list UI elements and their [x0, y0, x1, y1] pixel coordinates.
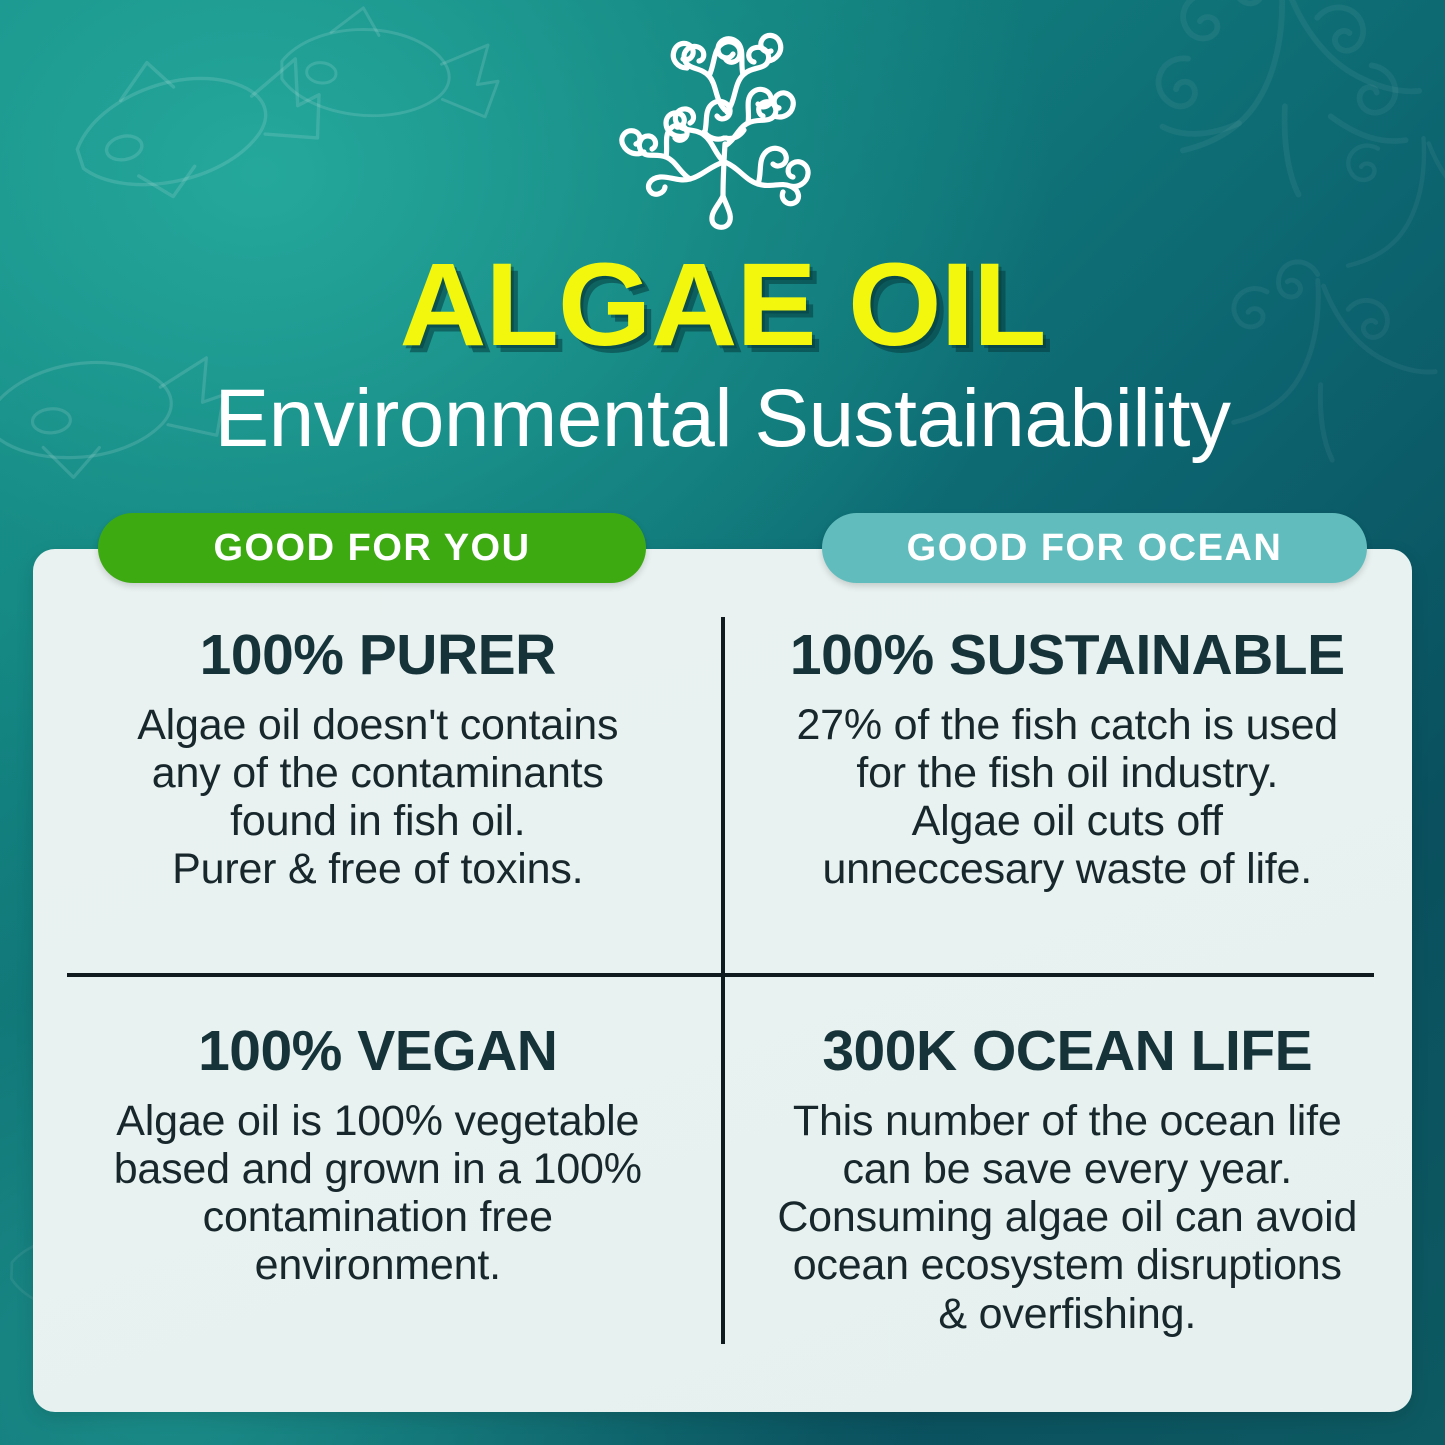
quadrant-vegan-title: 100% VEGAN [198, 1023, 557, 1080]
quadrant-purer: 100% PURER Algae oil doesn't contains an… [33, 549, 723, 975]
quadrant-purer-body: Algae oil doesn't contains any of the co… [137, 684, 618, 894]
poster-canvas: ALGAE OIL Environmental Sustainability G… [0, 0, 1445, 1445]
quadrant-purer-title: 100% PURER [200, 627, 556, 684]
badge-good-for-you: GOOD FOR YOU [98, 513, 646, 583]
badge-good-for-ocean: GOOD FOR OCEAN [822, 513, 1367, 583]
badge-row: GOOD FOR YOU GOOD FOR OCEAN [0, 513, 1445, 583]
badge-good-for-ocean-label: GOOD FOR OCEAN [907, 527, 1283, 570]
page-subtitle: Environmental Sustainability [0, 364, 1445, 460]
quadrant-sustainable-body: 27% of the fish catch is used for the fi… [796, 684, 1338, 894]
quadrant-ocean-life-title: 300K OCEAN LIFE [822, 1023, 1312, 1080]
coral-seaweed-icon [605, 18, 841, 242]
quadrant-sustainable-title: 100% SUSTAINABLE [790, 627, 1345, 684]
poster-header: ALGAE OIL Environmental Sustainability [0, 0, 1445, 460]
vertical-divider [721, 617, 725, 1344]
badge-good-for-you-label: GOOD FOR YOU [213, 527, 530, 570]
quadrant-sustainable: 100% SUSTAINABLE 27% of the fish catch i… [723, 549, 1413, 975]
quadrant-ocean-life-body: This number of the ocean life can be sav… [777, 1080, 1357, 1338]
quadrant-vegan-body: Algae oil is 100% vegetable based and gr… [114, 1080, 642, 1290]
quadrant-ocean-life: 300K OCEAN LIFE This number of the ocean… [723, 975, 1413, 1412]
page-title: ALGAE OIL [0, 242, 1445, 364]
quadrant-vegan: 100% VEGAN Algae oil is 100% vegetable b… [33, 975, 723, 1412]
logo-container [0, 0, 1445, 242]
benefits-card: 100% PURER Algae oil doesn't contains an… [33, 549, 1412, 1412]
